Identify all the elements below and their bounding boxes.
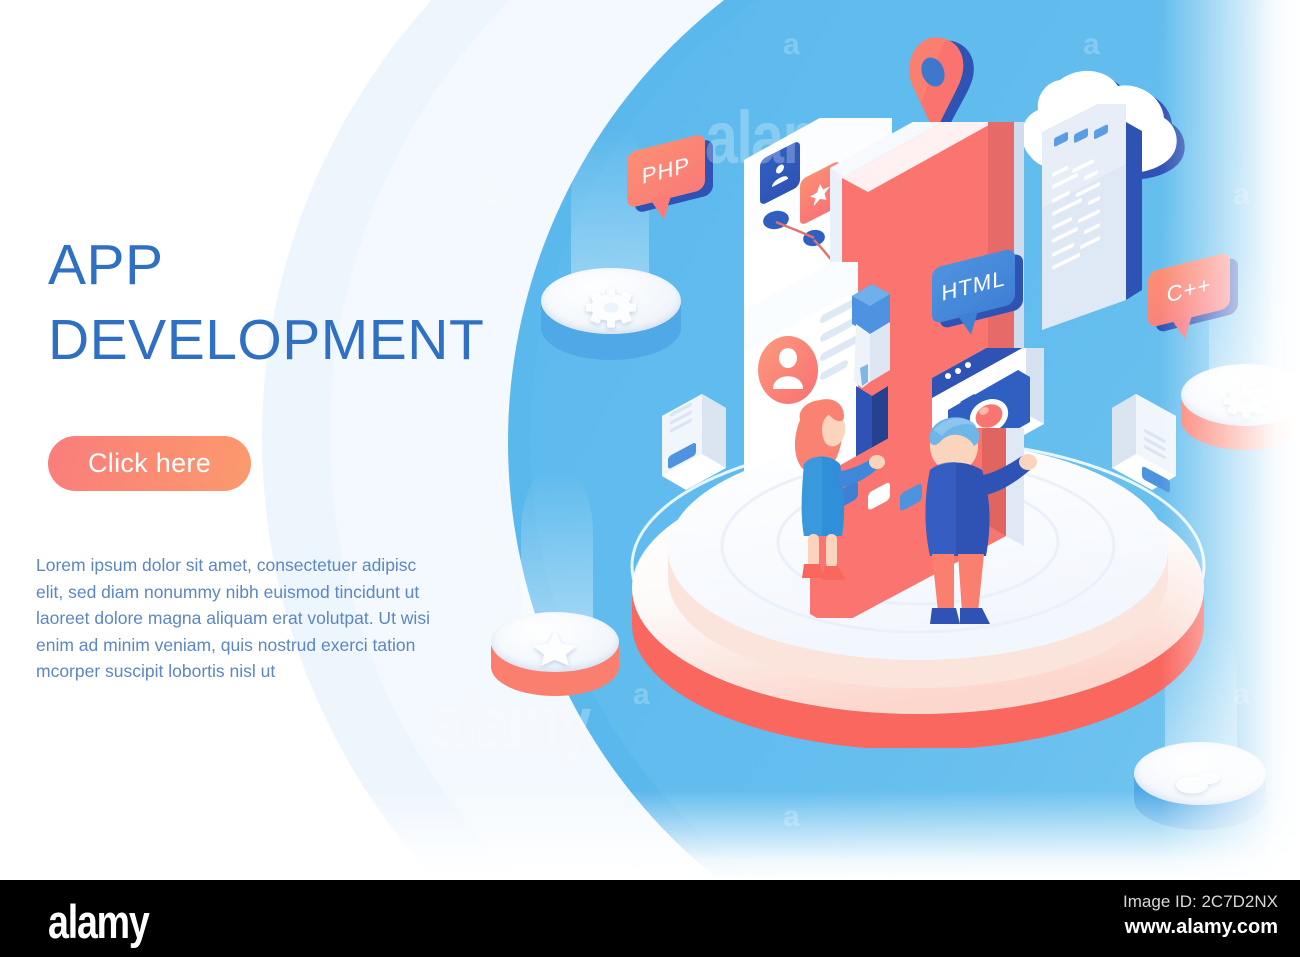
click-here-button[interactable]: Click here: [48, 436, 251, 491]
gear-icon: [580, 286, 642, 335]
woman-character: [778, 396, 888, 592]
alamy-logo: alamy: [48, 894, 149, 949]
code-tag-label: PHP: [642, 152, 690, 190]
star-icon: [526, 628, 584, 673]
illustration-canvas: a a a a a a a a alamy alamy: [0, 0, 1300, 880]
alamy-url-label: www.alamy.com: [978, 916, 1278, 939]
man-character: [912, 412, 1042, 638]
floating-disc-gear-upper-left: [541, 268, 681, 360]
code-tag-label: C++: [1167, 271, 1212, 308]
alamy-footer-bar: alamy Image ID: 2C7D2NX www.alamy.com: [0, 880, 1300, 957]
server-rack-right: [1094, 392, 1180, 502]
image-id-label: Image ID: 2C7D2NX: [978, 892, 1278, 912]
user-icon: [770, 157, 790, 189]
floating-disc-cloud-lower-right: [1134, 742, 1266, 830]
screenshot-root: a a a a a a a a alamy alamy: [0, 0, 1300, 957]
server-rack-left: [658, 392, 744, 502]
gear-icon: [1217, 380, 1275, 427]
hero-body-text: Lorem ipsum dolor sit amet, consectetuer…: [36, 552, 436, 685]
cloud-icon: [1169, 761, 1231, 804]
floating-disc-star-lower-left: [491, 612, 619, 696]
code-tag-label: HTML: [942, 265, 1006, 307]
page-title: APP DEVELOPMENT: [48, 228, 518, 378]
